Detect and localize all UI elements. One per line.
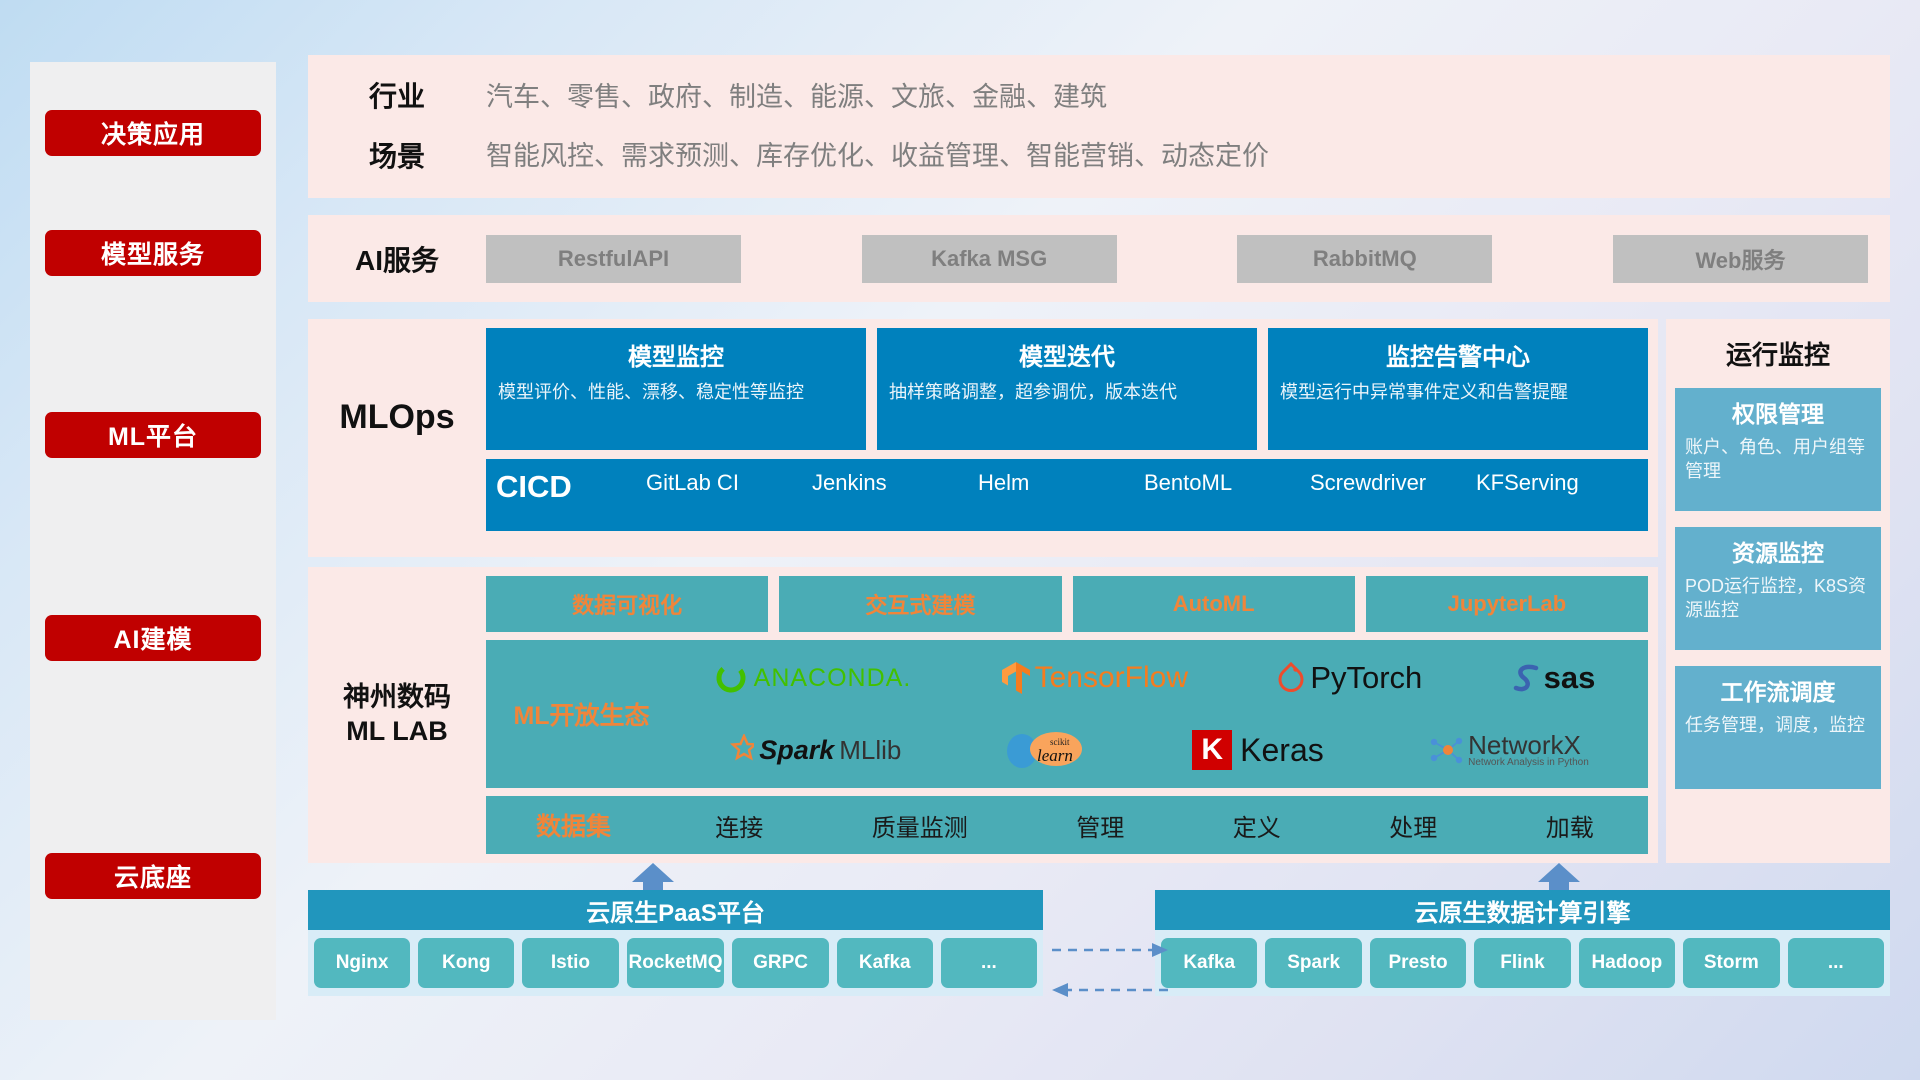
card-title: 模型迭代 — [889, 337, 1245, 372]
mlops-card-model-monitor[interactable]: 模型监控 模型评价、性能、漂移、稳定性等监控 — [486, 328, 866, 450]
mlops-card-model-iteration[interactable]: 模型迭代 抽样策略调整，超参调优，版本迭代 — [877, 328, 1257, 450]
ecosystem-logo-row-2: Spark MLlib scikit — [669, 716, 1640, 784]
chip-more[interactable]: ... — [941, 938, 1037, 988]
cicd-item-kfserving[interactable]: KFServing — [1476, 469, 1642, 497]
modeling-tools: 数据可视化 交互式建模 AutoML JupyterLab — [486, 576, 1648, 632]
sas-wordmark: sas — [1544, 660, 1596, 696]
mlops-card-alert-center[interactable]: 监控告警中心 模型运行中异常事件定义和告警提醒 — [1268, 328, 1648, 450]
rail-label: AI建模 — [113, 620, 192, 656]
platform-right: 运行监控 权限管理 账户、角色、用户组等管理 资源监控 POD运行监控，K8S资… — [1666, 319, 1890, 863]
platform-left: MLOps 模型监控 模型评价、性能、漂移、稳定性等监控 模型迭代 抽样策略调整… — [308, 319, 1658, 863]
rail-item-decision-app[interactable]: 决策应用 — [45, 110, 261, 156]
keras-icon: K — [1192, 730, 1232, 770]
card-title: 工作流调度 — [1685, 673, 1871, 707]
decision-labels: 行业 场景 — [308, 83, 486, 171]
monitoring-card-permission[interactable]: 权限管理 账户、角色、用户组等管理 — [1675, 388, 1881, 511]
ml-ecosystem-title: ML开放生态 — [494, 696, 669, 732]
rail-label: 云底座 — [114, 858, 192, 894]
ml-lab-label-line2: ML LAB — [308, 715, 486, 749]
rail-item-model-service[interactable]: 模型服务 — [45, 230, 261, 276]
chip-storm[interactable]: Storm — [1683, 938, 1779, 988]
chip-istio[interactable]: Istio — [522, 938, 618, 988]
sas-icon — [1512, 662, 1542, 694]
chip-grpc[interactable]: GRPC — [732, 938, 828, 988]
scikit-learn-icon: scikit learn — [1004, 730, 1090, 770]
ai-service-rabbitmq[interactable]: RabbitMQ — [1237, 235, 1492, 283]
cicd-title: CICD — [496, 469, 646, 505]
pytorch-icon — [1277, 662, 1305, 694]
industry-value: 汽车、零售、政府、制造、能源、文旅、金融、建筑 — [486, 84, 1890, 111]
card-title: 资源监控 — [1685, 534, 1871, 568]
spark-mllib-logo: Spark MLlib — [720, 734, 901, 766]
cicd-item-helm[interactable]: Helm — [978, 469, 1144, 497]
networkx-tagline: Network Analysis in Python — [1468, 758, 1589, 768]
ai-service-restfulapi[interactable]: RestfulAPI — [486, 235, 741, 283]
platform-section: MLOps 模型监控 模型评价、性能、漂移、稳定性等监控 模型迭代 抽样策略调整… — [308, 319, 1890, 863]
tensorflow-logo: TensorFlow — [1001, 661, 1188, 695]
ai-service-label: AI服务 — [308, 239, 486, 279]
dataset-bar: 数据集 连接 质量监测 管理 定义 处理 加载 — [486, 796, 1648, 854]
diagram-canvas: 决策应用 模型服务 ML平台 AI建模 云底座 行业 场景 汽车、零售、政府、制… — [0, 0, 1920, 1080]
card-title: 模型监控 — [498, 337, 854, 372]
chip-spark[interactable]: Spark — [1265, 938, 1361, 988]
card-title: 监控告警中心 — [1280, 337, 1636, 372]
dataset-item-connect[interactable]: 连接 — [715, 808, 763, 843]
cicd-item-screwdriver[interactable]: Screwdriver — [1310, 469, 1476, 497]
monitoring-card-resource[interactable]: 资源监控 POD运行监控，K8S资源监控 — [1675, 527, 1881, 650]
networkx-icon — [1426, 733, 1464, 767]
anaconda-wordmark: ANACONDA. — [754, 664, 912, 693]
cloud-paas-group: 云原生PaaS平台 Nginx Kong Istio RocketMQ GRPC… — [308, 890, 1043, 996]
anaconda-icon — [714, 661, 748, 695]
decision-application-band: 行业 场景 汽车、零售、政府、制造、能源、文旅、金融、建筑 智能风控、需求预测、… — [308, 55, 1890, 198]
chip-kong[interactable]: Kong — [418, 938, 514, 988]
spark-wordmark: Spark — [759, 735, 834, 766]
tool-data-visualization[interactable]: 数据可视化 — [486, 576, 768, 632]
chip-presto[interactable]: Presto — [1370, 938, 1466, 988]
mlops-label: MLOps — [308, 328, 486, 437]
main-column: 行业 场景 汽车、零售、政府、制造、能源、文旅、金融、建筑 智能风控、需求预测、… — [308, 55, 1890, 863]
scenario-label: 场景 — [308, 143, 486, 171]
ml-lab-label-line1: 神州数码 — [308, 681, 486, 715]
card-desc: 抽样策略调整，超参调优，版本迭代 — [889, 380, 1245, 404]
spark-star-icon — [720, 734, 754, 766]
card-desc: POD运行监控，K8S资源监控 — [1685, 574, 1871, 623]
cloud-data-engine-header[interactable]: 云原生数据计算引擎 — [1155, 890, 1890, 930]
sas-logo: sas — [1512, 660, 1596, 696]
dataset-item-load[interactable]: 加载 — [1546, 808, 1594, 843]
cloud-connectors — [1050, 938, 1170, 1000]
chip-hadoop[interactable]: Hadoop — [1579, 938, 1675, 988]
tool-jupyterlab[interactable]: JupyterLab — [1366, 576, 1648, 632]
chip-kafka-2[interactable]: Kafka — [1161, 938, 1257, 988]
tensorflow-wordmark: TensorFlow — [1035, 661, 1188, 695]
card-desc: 模型运行中异常事件定义和告警提醒 — [1280, 380, 1636, 404]
networkx-wordmark: NetworkX — [1468, 732, 1589, 758]
scenario-value: 智能风控、需求预测、库存优化、收益管理、智能营销、动态定价 — [486, 143, 1890, 170]
mllib-wordmark: MLlib — [839, 735, 901, 766]
dataset-item-define[interactable]: 定义 — [1233, 808, 1281, 843]
pytorch-logo: PyTorch — [1277, 660, 1422, 696]
monitoring-title: 运行监控 — [1675, 335, 1881, 372]
cicd-item-gitlab-ci[interactable]: GitLab CI — [646, 469, 812, 497]
card-desc: 任务管理，调度，监控 — [1685, 713, 1871, 737]
pytorch-wordmark: PyTorch — [1310, 660, 1422, 696]
cicd-bar: CICD GitLab CI Jenkins Helm BentoML Scre… — [486, 459, 1648, 531]
tensorflow-icon — [1001, 661, 1031, 695]
tool-interactive-modeling[interactable]: 交互式建模 — [779, 576, 1061, 632]
chip-flink[interactable]: Flink — [1474, 938, 1570, 988]
keras-wordmark: Keras — [1240, 732, 1324, 769]
card-desc: 模型评价、性能、漂移、稳定性等监控 — [498, 380, 854, 404]
card-desc: 账户、角色、用户组等管理 — [1685, 435, 1871, 484]
cloud-paas-chips: Nginx Kong Istio RocketMQ GRPC Kafka ... — [308, 930, 1043, 996]
rail-item-ml-platform[interactable]: ML平台 — [45, 412, 261, 458]
cloud-data-engine-chips: Kafka Spark Presto Flink Hadoop Storm ..… — [1155, 930, 1890, 996]
chip-kafka[interactable]: Kafka — [837, 938, 933, 988]
runtime-monitoring-panel: 运行监控 权限管理 账户、角色、用户组等管理 资源监控 POD运行监控，K8S资… — [1666, 319, 1890, 863]
ai-service-band: AI服务 RestfulAPI Kafka MSG RabbitMQ Web服务 — [308, 215, 1890, 302]
keras-logo: K Keras — [1192, 730, 1324, 770]
monitoring-card-workflow[interactable]: 工作流调度 任务管理，调度，监控 — [1675, 666, 1881, 789]
dataset-item-quality[interactable]: 质量监测 — [872, 808, 968, 843]
anaconda-logo: ANACONDA. — [714, 661, 912, 695]
ai-modeling-band: 神州数码 ML LAB 数据可视化 交互式建模 AutoML JupyterLa… — [308, 567, 1658, 863]
rail-item-cloud-base[interactable]: 云底座 — [45, 853, 261, 899]
decision-values: 汽车、零售、政府、制造、能源、文旅、金融、建筑 智能风控、需求预测、库存优化、收… — [486, 84, 1890, 170]
cloud-data-engine-group: 云原生数据计算引擎 Kafka Spark Presto Flink Hadoo… — [1155, 890, 1890, 996]
ml-ecosystem-panel: ML开放生态 ANACONDA. — [486, 640, 1648, 788]
chip-more-2[interactable]: ... — [1788, 938, 1884, 988]
rail-item-ai-modeling[interactable]: AI建模 — [45, 615, 261, 661]
svg-text:learn: learn — [1037, 746, 1073, 765]
rail-label: 决策应用 — [101, 115, 205, 151]
ai-service-web[interactable]: Web服务 — [1613, 235, 1868, 283]
industry-label: 行业 — [308, 83, 486, 111]
chip-nginx[interactable]: Nginx — [314, 938, 410, 988]
chip-rocketmq[interactable]: RocketMQ — [627, 938, 725, 988]
rail-label: ML平台 — [108, 417, 198, 453]
card-title: 权限管理 — [1685, 395, 1871, 429]
dataset-item-manage[interactable]: 管理 — [1076, 808, 1124, 843]
tool-automl[interactable]: AutoML — [1073, 576, 1355, 632]
layer-rail: 决策应用 模型服务 ML平台 AI建模 云底座 — [30, 62, 276, 1020]
cicd-item-bentoml[interactable]: BentoML — [1144, 469, 1310, 497]
ecosystem-logo-row-1: ANACONDA. TensorFlow — [669, 644, 1640, 712]
networkx-logo: NetworkX Network Analysis in Python — [1426, 732, 1589, 768]
dataset-title: 数据集 — [486, 807, 661, 843]
ai-service-kafka-msg[interactable]: Kafka MSG — [862, 235, 1117, 283]
ml-lab-label: 神州数码 ML LAB — [308, 681, 486, 749]
cloud-paas-header[interactable]: 云原生PaaS平台 — [308, 890, 1043, 930]
scikit-learn-logo: scikit learn — [1004, 730, 1090, 770]
cicd-item-jenkins[interactable]: Jenkins — [812, 469, 978, 497]
mlops-band: MLOps 模型监控 模型评价、性能、漂移、稳定性等监控 模型迭代 抽样策略调整… — [308, 319, 1658, 557]
ai-service-buttons: RestfulAPI Kafka MSG RabbitMQ Web服务 — [486, 235, 1890, 283]
dataset-item-process[interactable]: 处理 — [1389, 808, 1437, 843]
rail-label: 模型服务 — [101, 235, 205, 271]
